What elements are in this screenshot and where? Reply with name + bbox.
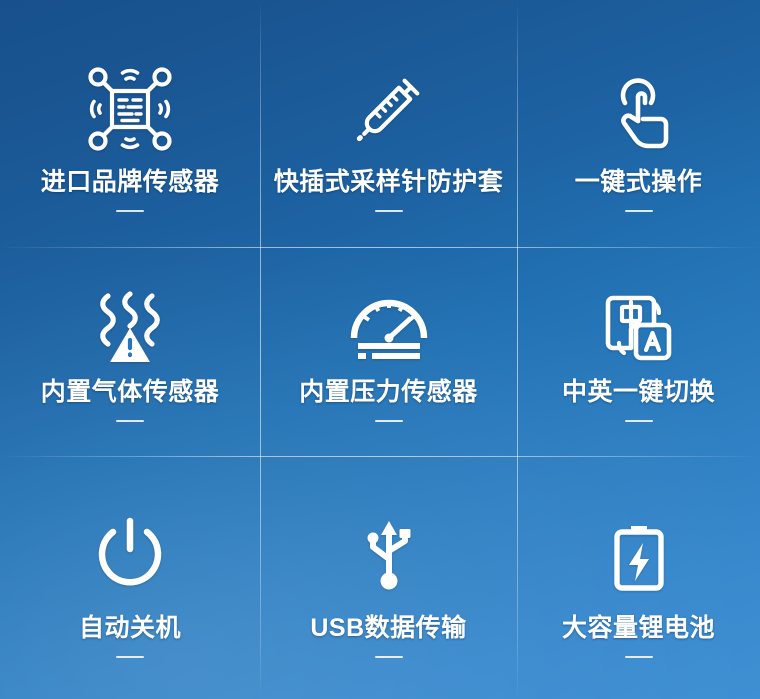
feature-grid-panel: 进口品牌传感器 <box>0 0 760 699</box>
feature-label: 大容量锂电池 <box>562 615 715 643</box>
feature-label: 进口品牌传感器 <box>41 169 220 197</box>
gas-warning-icon <box>82 285 178 371</box>
label-underline <box>375 656 403 658</box>
feature-card-one-key-operation[interactable]: 一键式操作 <box>517 0 760 247</box>
feature-label: USB数据传输 <box>310 615 466 643</box>
feature-card-imported-brand-sensor[interactable]: 进口品牌传感器 <box>0 0 260 247</box>
feature-card-usb-data-transfer[interactable]: USB数据传输 <box>260 456 517 699</box>
feature-grid: 进口品牌传感器 <box>0 0 760 699</box>
sensor-chip-icon <box>82 61 178 157</box>
feature-label: 内置压力传感器 <box>299 379 478 407</box>
feature-card-chinese-english-toggle[interactable]: 中英一键切换 <box>517 247 760 456</box>
tap-hand-icon <box>591 61 687 157</box>
feature-label: 中英一键切换 <box>562 379 715 407</box>
feature-label: 一键式操作 <box>575 169 703 197</box>
feature-label: 自动关机 <box>79 615 181 643</box>
feature-card-large-capacity-lithium-battery[interactable]: 大容量锂电池 <box>517 456 760 699</box>
label-underline <box>116 656 144 658</box>
feature-label: 内置气体传感器 <box>41 379 220 407</box>
feature-card-built-in-pressure-sensor[interactable]: 内置压力传感器 <box>260 247 517 456</box>
label-underline <box>625 656 653 658</box>
translate-icon <box>591 285 687 371</box>
feature-card-built-in-gas-sensor[interactable]: 内置气体传感器 <box>0 247 260 456</box>
label-underline <box>116 420 144 422</box>
power-icon <box>82 507 178 603</box>
label-underline <box>375 420 403 422</box>
label-underline <box>625 210 653 212</box>
pressure-gauge-icon <box>341 285 437 371</box>
label-underline <box>375 210 403 212</box>
usb-icon <box>341 507 437 603</box>
feature-label: 快插式采样针防护套 <box>274 169 504 197</box>
feature-card-quick-insert-needle-sheath[interactable]: 快插式采样针防护套 <box>260 0 517 247</box>
battery-bolt-icon <box>591 507 687 603</box>
label-underline <box>625 420 653 422</box>
label-underline <box>116 210 144 212</box>
feature-card-auto-power-off[interactable]: 自动关机 <box>0 456 260 699</box>
syringe-icon <box>341 61 437 157</box>
